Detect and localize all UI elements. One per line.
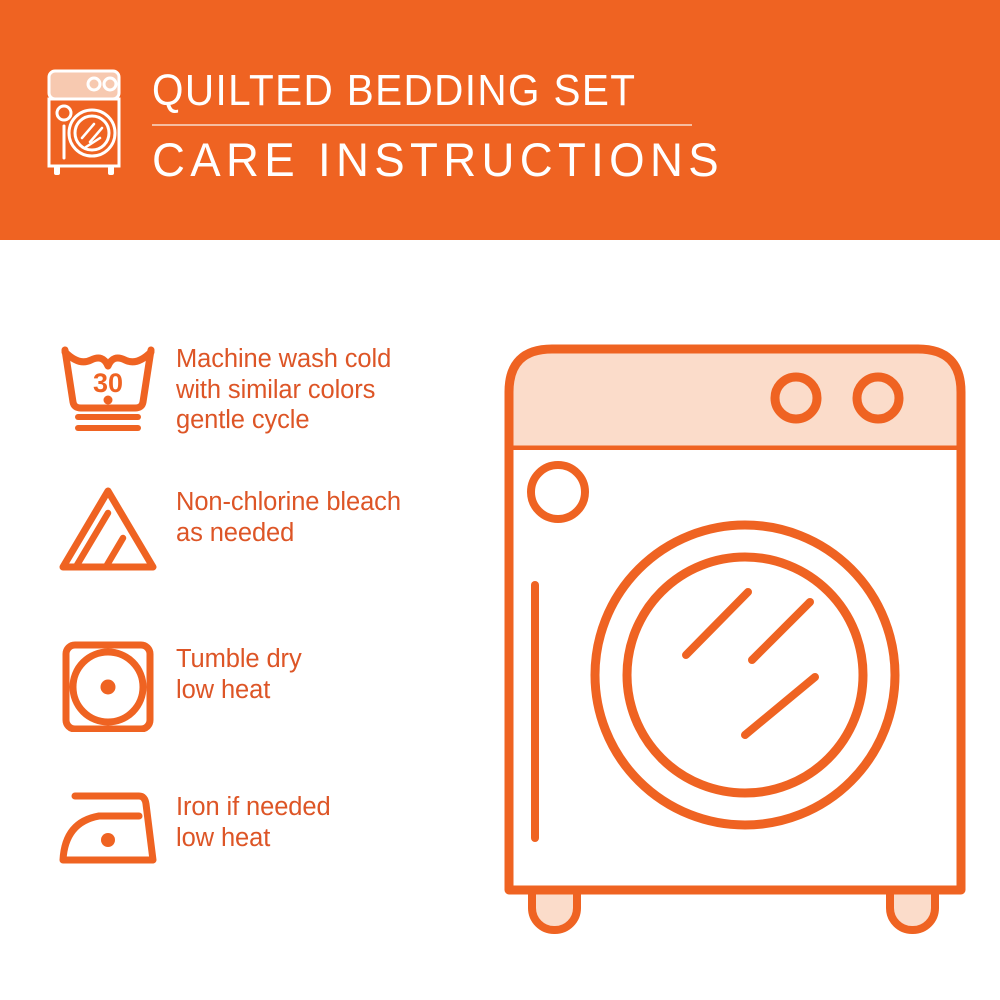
care-text-line: with similar colors bbox=[176, 375, 391, 406]
care-item-text: Machine wash cold with similar colors ge… bbox=[176, 340, 391, 436]
care-text-line: as needed bbox=[176, 518, 401, 549]
care-instructions-list: 30 Machine wash cold with similar colors… bbox=[0, 240, 500, 1000]
care-item-tumble-dry: Tumble dry low heat bbox=[48, 640, 478, 732]
header-banner: QUILTED BEDDING SET CARE INSTRUCTIONS bbox=[0, 0, 1000, 240]
care-text-line: Tumble dry bbox=[176, 644, 302, 675]
care-text-line: low heat bbox=[176, 675, 302, 706]
page-subtitle: CARE INSTRUCTIONS bbox=[152, 132, 724, 188]
care-item-text: Tumble dry low heat bbox=[176, 640, 302, 705]
care-item-bleach: Non-chlorine bleach as needed bbox=[48, 483, 478, 575]
control-panel bbox=[509, 349, 961, 450]
tumble-dry-low-heat-icon bbox=[48, 640, 168, 732]
care-text-line: Machine wash cold bbox=[176, 344, 391, 375]
care-item-machine-wash: 30 Machine wash cold with similar colors… bbox=[48, 340, 478, 436]
care-item-text: Non-chlorine bleach as needed bbox=[176, 483, 401, 548]
washing-machine-icon bbox=[44, 68, 130, 178]
page-title: QUILTED BEDDING SET bbox=[152, 66, 694, 116]
iron-low-heat-icon bbox=[48, 788, 168, 870]
care-text-line: low heat bbox=[176, 823, 331, 854]
header-content: QUILTED BEDDING SET CARE INSTRUCTIONS bbox=[44, 62, 742, 188]
care-text-line: Non-chlorine bleach bbox=[176, 487, 401, 518]
care-item-iron: Iron if needed low heat bbox=[48, 788, 478, 870]
care-text-line: gentle cycle bbox=[176, 405, 391, 436]
care-text-line: Iron if needed bbox=[176, 792, 331, 823]
header-titles: QUILTED BEDDING SET CARE INSTRUCTIONS bbox=[152, 62, 742, 188]
washing-machine-illustration bbox=[490, 330, 980, 940]
machine-wash-30-gentle-icon: 30 bbox=[48, 340, 168, 436]
care-item-text: Iron if needed low heat bbox=[176, 788, 331, 853]
title-divider bbox=[152, 124, 692, 126]
non-chlorine-bleach-triangle-icon bbox=[48, 483, 168, 575]
wash-temperature-label: 30 bbox=[93, 368, 123, 398]
